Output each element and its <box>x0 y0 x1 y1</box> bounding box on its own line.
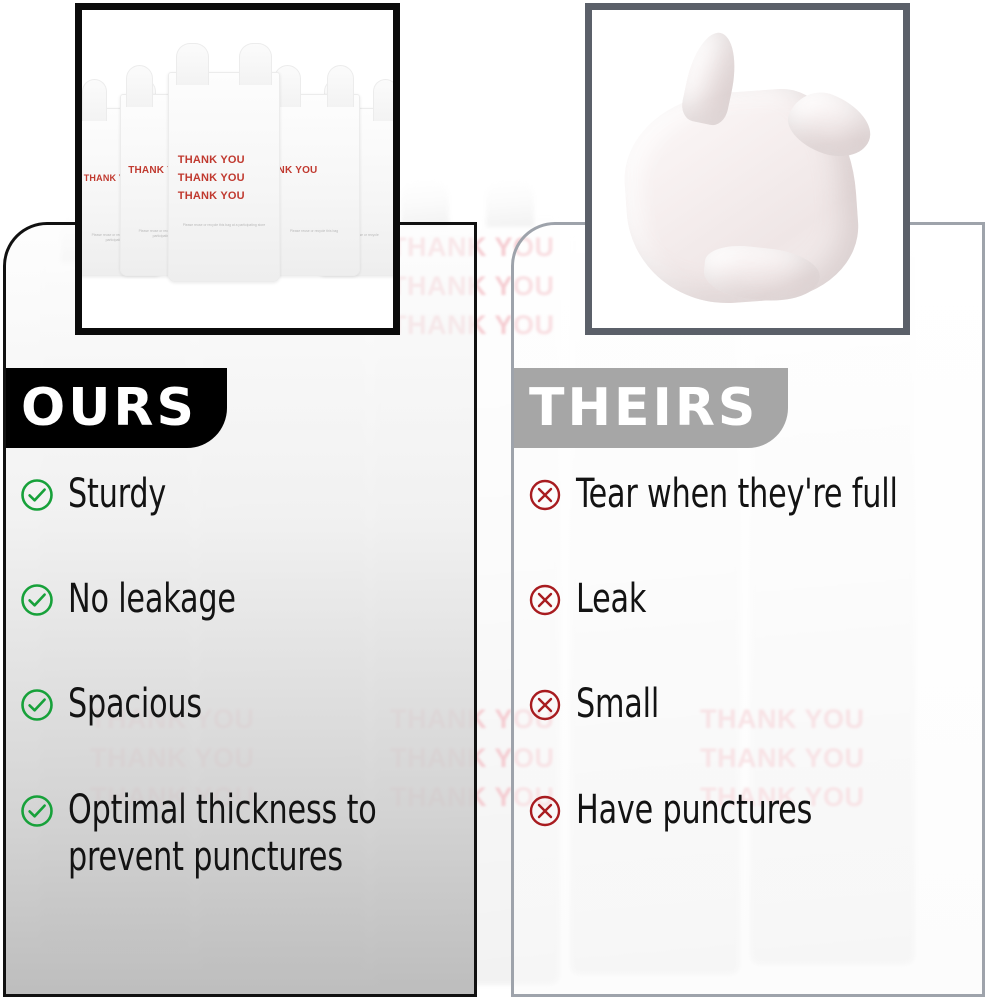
theirs-feature-item: Tear when they're full <box>528 471 972 518</box>
theirs-feature-label: Leak <box>576 576 646 623</box>
theirs-feature-item: Small <box>528 681 972 728</box>
check-circle-icon <box>20 688 54 722</box>
theirs-feature-item: Have punctures <box>528 787 972 834</box>
theirs-feature-label: Tear when they're full <box>576 471 898 518</box>
cross-circle-icon <box>528 794 562 828</box>
check-circle-icon <box>20 794 54 828</box>
theirs-feature-label: Have punctures <box>576 787 812 834</box>
ours-banner-label: OURS <box>21 382 197 434</box>
ours-feature-label: Spacious <box>68 681 202 728</box>
theirs-banner-label: THEIRS <box>529 382 758 434</box>
ours-product-photo: THANK YOU Please reuse or recycle this b… <box>75 3 400 335</box>
ours-banner: OURS <box>3 368 227 448</box>
theirs-product-photo <box>585 3 910 335</box>
cross-circle-icon <box>528 478 562 512</box>
theirs-card: THEIRS Tear when they're full <box>511 222 985 997</box>
check-circle-icon <box>20 583 54 617</box>
ours-feature-label: Optimal thickness to prevent punctures <box>68 787 377 881</box>
ours-feature-item: Optimal thickness to prevent punctures <box>20 787 464 881</box>
ours-feature-list: Sturdy No leakage Spac <box>6 471 474 881</box>
ours-feature-item: No leakage <box>20 576 464 623</box>
theirs-feature-list: Tear when they're full Leak <box>514 471 982 834</box>
theirs-feature-item: Leak <box>528 576 972 623</box>
theirs-feature-label: Small <box>576 681 659 728</box>
ours-card: OURS Sturdy No lea <box>3 222 477 997</box>
cross-circle-icon <box>528 583 562 617</box>
cross-circle-icon <box>528 688 562 722</box>
check-circle-icon <box>20 478 54 512</box>
ours-feature-item: Spacious <box>20 681 464 728</box>
ours-feature-item: Sturdy <box>20 471 464 518</box>
ours-feature-label: Sturdy <box>68 471 166 518</box>
ours-feature-label: No leakage <box>68 576 236 623</box>
comparison-infographic: THANK YOUTHANK YOUTHANK YOU THANK YOUTHA… <box>0 0 988 1000</box>
theirs-banner: THEIRS <box>511 368 788 448</box>
